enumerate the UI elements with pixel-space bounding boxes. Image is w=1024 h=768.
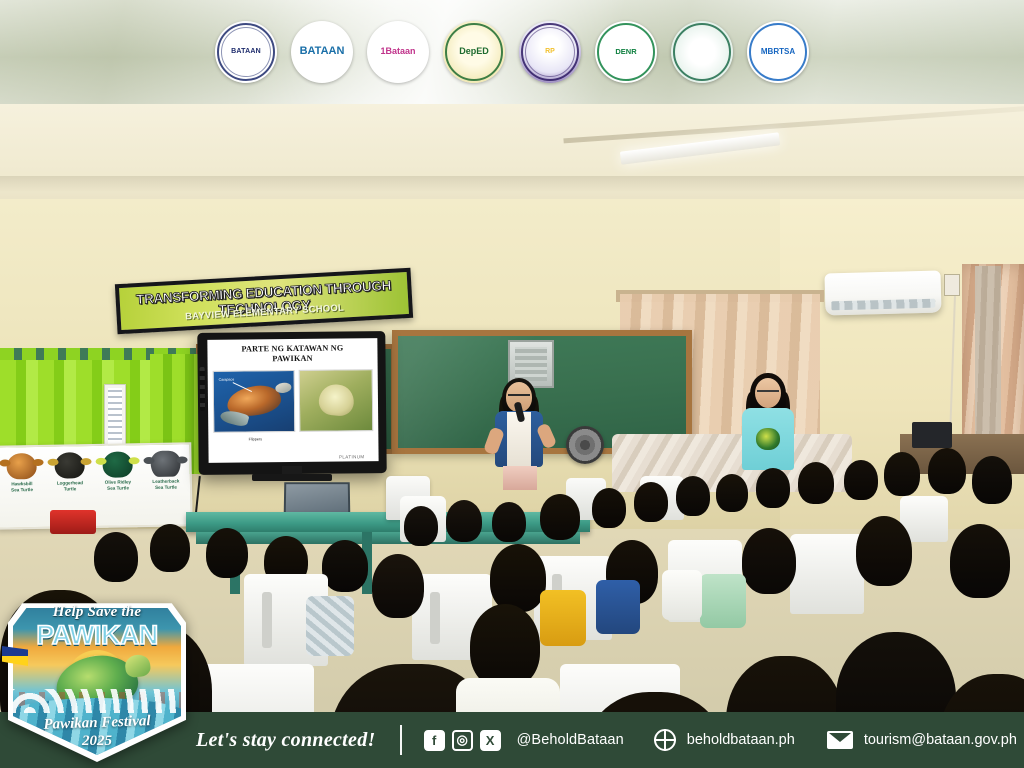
email-address[interactable]: tourism@bataan.gov.ph xyxy=(864,732,1017,748)
ceiling-beam xyxy=(0,176,1024,192)
laptop-icon xyxy=(284,482,351,514)
x-twitter-icon[interactable]: X xyxy=(480,730,501,751)
presenter-skirt xyxy=(503,466,537,490)
logo-peoples-bataan-icon: BATAAN xyxy=(291,21,353,83)
hawksbill-turtle-icon xyxy=(6,453,36,480)
social-handle[interactable]: @BeholdBataan xyxy=(517,732,624,748)
sea-turtle-species-poster: Hawksbill Sea Turtle Loggerhead Turtle O… xyxy=(0,442,193,529)
website-url[interactable]: beholdbataan.ph xyxy=(687,732,795,748)
logo-one-bataan-icon: 1Bataan xyxy=(367,21,429,83)
poster-card: BATAAN BATAAN 1Bataan DepED RP DENR xyxy=(0,0,1024,768)
logo-band: BATAAN BATAAN 1Bataan DepED RP DENR xyxy=(0,0,1024,104)
footer-tagline: Let's stay connected! xyxy=(196,729,376,752)
badge-line1: Help Save the xyxy=(8,604,186,621)
instagram-icon[interactable]: ◎ xyxy=(452,730,473,751)
badge-line4: 2025 xyxy=(8,733,186,750)
loggerhead-turtle-icon xyxy=(54,452,84,479)
badge-line2: PAWIKAN xyxy=(8,620,186,651)
electric-fan-icon xyxy=(566,426,604,464)
side-monitor-icon xyxy=(912,422,952,448)
envelope-icon xyxy=(827,731,853,749)
facebook-icon[interactable]: f xyxy=(424,730,445,751)
facilitator-eyeglasses-icon xyxy=(757,390,779,395)
slide-label-carapace: Carapace xyxy=(219,377,235,381)
slide-image-adult-turtle: Carapace xyxy=(213,369,295,432)
slide-images: Carapace xyxy=(213,369,373,433)
display-brand: PLATINUM xyxy=(339,454,365,459)
logo-provincial-government-bataan-icon: PGB xyxy=(671,21,733,83)
display-stand xyxy=(252,474,332,481)
species-leatherback: Leatherback Sea Turtle xyxy=(144,450,187,490)
logo-mbrtsa-icon: MBRTSA xyxy=(747,21,809,83)
globe-icon xyxy=(654,729,676,751)
red-storage-box xyxy=(50,510,96,534)
pawikan-festival-badge: Help Save the PAWIKAN Pawikan Festival 2… xyxy=(8,600,186,762)
air-conditioner-icon xyxy=(824,270,941,315)
slide-title-line2: PAWIKAN xyxy=(211,353,374,365)
footer-divider xyxy=(400,725,402,755)
logo-deped-bataan-icon: DepED xyxy=(443,21,505,83)
slide-screen: PARTE NG KATAWAN NG PAWIKAN Carapace Fli… xyxy=(207,338,378,463)
student-presenter xyxy=(487,382,553,490)
hatchling-photo-icon xyxy=(317,383,354,417)
species-hawksbill: Hawksbill Sea Turtle xyxy=(0,453,43,493)
slide-label-flippers: Flippers xyxy=(249,437,263,441)
logo-bataan-seal-icon: BATAAN xyxy=(215,21,277,83)
wall-switch-box xyxy=(944,274,960,296)
logo-denr-icon: DENR xyxy=(595,21,657,83)
sea-turtle-photo-icon xyxy=(225,383,283,420)
partner-logo-row: BATAAN BATAAN 1Bataan DepED RP DENR xyxy=(0,0,1024,104)
wave-foam xyxy=(13,689,181,713)
eyeglasses-icon xyxy=(508,394,530,400)
leatherback-turtle-icon xyxy=(150,450,180,477)
species-olive-ridley: Olive Ridley Sea Turtle xyxy=(96,451,139,491)
turtle-shirt-graphic-icon xyxy=(756,428,780,450)
olive-ridley-turtle-icon xyxy=(102,451,132,478)
facilitator xyxy=(736,376,800,472)
presentation-display: PARTE NG KATAWAN NG PAWIKAN Carapace Fli… xyxy=(197,331,386,475)
slide-image-hatchling xyxy=(298,369,373,432)
logo-republic-seal-icon: RP xyxy=(519,21,581,83)
display-buttons xyxy=(200,367,205,411)
species-loggerhead: Loggerhead Turtle xyxy=(48,452,91,492)
